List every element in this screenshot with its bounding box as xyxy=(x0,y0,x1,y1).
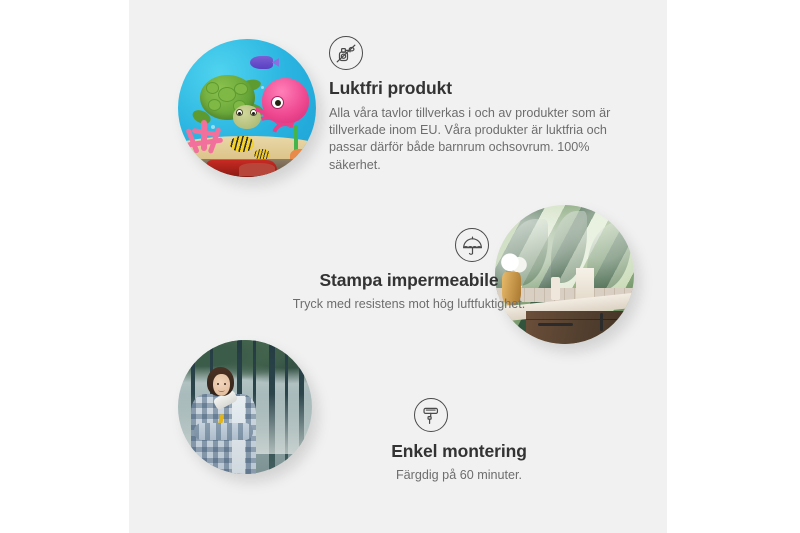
feature-description: Färgdig på 60 minuter. xyxy=(324,467,594,484)
woman-eye xyxy=(224,383,226,385)
bubble-icon xyxy=(261,86,264,89)
drawer-handle xyxy=(538,323,574,326)
photo-sea xyxy=(178,39,316,177)
feature-title: Stampa impermeabile xyxy=(219,270,599,291)
forest-canopy xyxy=(178,340,312,391)
coral xyxy=(185,120,226,164)
turtle-plate xyxy=(206,82,219,94)
fish-purple xyxy=(250,56,273,70)
feature-mounting: Enkel montering Färgdig på 60 minuter. xyxy=(324,398,594,484)
no-fragrance-icon xyxy=(329,36,363,70)
fish-yellow xyxy=(230,136,253,153)
feature-waterproof: Stampa impermeabile Tryck med resistens … xyxy=(219,228,599,313)
feature-odorless: Luktfri produkt Alla våra tavlor tillver… xyxy=(329,36,629,174)
drawer-divider xyxy=(526,319,634,320)
coral-branch xyxy=(201,120,207,151)
octopus-head xyxy=(262,78,309,124)
wood-cabinet xyxy=(526,311,634,344)
woman-eye xyxy=(217,383,219,385)
feature-title: Luktfri produkt xyxy=(329,78,629,99)
turtle-plate xyxy=(234,83,247,95)
feature-title: Enkel montering xyxy=(324,441,594,462)
feature-description: Alla våra tavlor tillverkas i och av pro… xyxy=(329,105,624,174)
content-canvas: Luktfri produkt Alla våra tavlor tillver… xyxy=(129,0,667,533)
sea-foreground-object xyxy=(239,163,275,175)
umbrella-icon xyxy=(455,228,489,262)
turtle-plate xyxy=(208,99,221,111)
octopus-eye xyxy=(271,96,284,109)
cabinet-handle xyxy=(600,313,603,330)
feature-description: Tryck med resistens mot hög luftfuktighe… xyxy=(219,296,599,313)
paint-roller-icon xyxy=(414,398,448,432)
promo-banner: Luktfri produkt Alla våra tavlor tillver… xyxy=(0,0,800,533)
photo-forest xyxy=(178,340,312,474)
woman-arms xyxy=(194,423,253,440)
